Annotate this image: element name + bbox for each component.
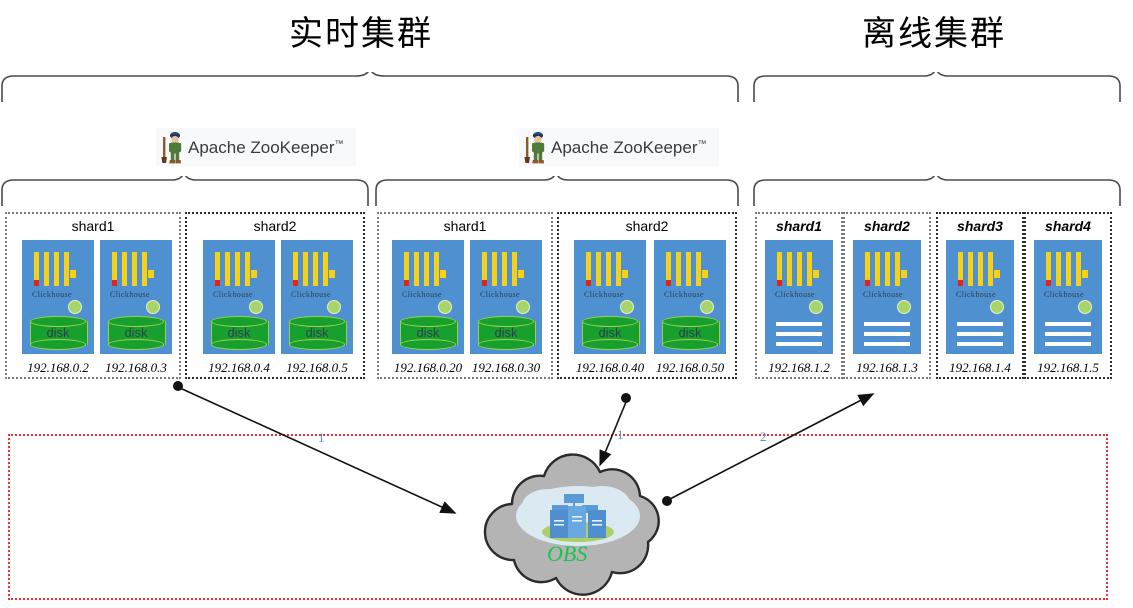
node-ip: 192.168.1.3 [843, 360, 931, 376]
zookeeper-label-2: Apache ZooKeeper™ [551, 139, 707, 156]
disk-icon: disk [400, 316, 456, 350]
zookeeper-keeper-icon [523, 129, 551, 165]
disk-icon: disk [478, 316, 534, 350]
clickhouse-logo-icon [482, 252, 542, 292]
node-ip: 192.168.0.20 [386, 360, 470, 376]
clickhouse-caption: Clickhouse [110, 290, 150, 299]
brace-offline-group [752, 176, 1122, 208]
architecture-diagram: 实时集群 离线集群 Apache ZooKeeper™ [0, 0, 1133, 608]
clickhouse-caption: Clickhouse [213, 290, 253, 299]
brace-zk2-group [374, 176, 740, 208]
disk-icon: disk [289, 316, 345, 350]
storage-line [1045, 332, 1091, 336]
clickhouse-logo-icon [404, 252, 464, 292]
disk-label: disk [30, 325, 86, 340]
shard-label: shard1 [757, 218, 841, 234]
storage-line [1045, 322, 1091, 326]
clickhouse-node: Clickhouse disk [100, 240, 172, 354]
cluster-title-offline: 离线集群 [862, 6, 1006, 55]
node-ip: 192.168.0.2 [22, 360, 94, 376]
brace-realtime-top [0, 72, 740, 104]
status-led-icon [249, 300, 263, 314]
zookeeper-logo-1: Apache ZooKeeper™ [156, 128, 356, 166]
storage-line [864, 322, 910, 326]
arrow-label-2: 2 [760, 429, 767, 445]
clickhouse-node: Clickhouse disk [574, 240, 646, 354]
zookeeper-keeper-icon [160, 129, 188, 165]
clickhouse-caption: Clickhouse [1044, 290, 1084, 299]
disk-icon: disk [211, 316, 267, 350]
disk-label: disk [662, 325, 718, 340]
shard-label: shard3 [938, 218, 1022, 234]
node-ip: 192.168.0.4 [203, 360, 275, 376]
storage-line [957, 322, 1003, 326]
obs-label: OBS [547, 541, 587, 567]
cluster-title-realtime: 实时集群 [289, 6, 433, 55]
clickhouse-node: Clickhouse disk [470, 240, 542, 354]
shard-label: shard2 [187, 218, 363, 234]
clickhouse-logo-icon [586, 252, 646, 292]
clickhouse-node: Clickhouse [946, 240, 1014, 354]
clickhouse-caption: Clickhouse [480, 290, 520, 299]
clickhouse-logo-icon [1046, 252, 1106, 292]
clickhouse-caption: Clickhouse [32, 290, 72, 299]
status-led-icon [146, 300, 160, 314]
shard-label: shard2 [845, 218, 929, 234]
storage-line [776, 342, 822, 346]
shard-label: shard1 [7, 218, 179, 234]
shard-label: shard2 [559, 218, 735, 234]
disk-icon: disk [30, 316, 86, 350]
node-ip: 192.168.1.5 [1024, 360, 1112, 376]
clickhouse-node: Clickhouse disk [392, 240, 464, 354]
clickhouse-logo-icon [293, 252, 353, 292]
node-ip: 192.168.0.40 [568, 360, 652, 376]
disk-label: disk [478, 325, 534, 340]
zookeeper-logo-2: Apache ZooKeeper™ [519, 128, 719, 166]
node-ip: 192.168.1.2 [755, 360, 843, 376]
arrow-label-1b: 1 [617, 427, 624, 443]
status-led-icon [700, 300, 714, 314]
clickhouse-node: Clickhouse [853, 240, 921, 354]
status-led-icon [990, 300, 1004, 314]
disk-label: disk [289, 325, 345, 340]
disk-label: disk [400, 325, 456, 340]
clickhouse-logo-icon [215, 252, 275, 292]
status-led-icon [68, 300, 82, 314]
clickhouse-logo-icon [865, 252, 925, 292]
brace-zk1-group [0, 176, 370, 208]
node-ip: 192.168.0.50 [648, 360, 732, 376]
clickhouse-node: Clickhouse disk [203, 240, 275, 354]
clickhouse-caption: Clickhouse [402, 290, 442, 299]
clickhouse-caption: Clickhouse [291, 290, 331, 299]
zookeeper-label-1: Apache ZooKeeper™ [188, 139, 344, 156]
storage-line [776, 332, 822, 336]
status-led-icon [809, 300, 823, 314]
status-led-icon [1078, 300, 1092, 314]
shard-label: shard4 [1026, 218, 1110, 234]
brace-offline-top [752, 72, 1122, 104]
clickhouse-logo-icon [112, 252, 172, 292]
clickhouse-logo-icon [666, 252, 726, 292]
disk-label: disk [582, 325, 638, 340]
disk-icon: disk [662, 316, 718, 350]
storage-line [957, 332, 1003, 336]
shard-label: shard1 [379, 218, 551, 234]
status-led-icon [327, 300, 341, 314]
disk-icon: disk [108, 316, 164, 350]
clickhouse-caption: Clickhouse [956, 290, 996, 299]
clickhouse-caption: Clickhouse [775, 290, 815, 299]
node-ip: 192.168.0.5 [281, 360, 353, 376]
disk-label: disk [108, 325, 164, 340]
storage-line [957, 342, 1003, 346]
storage-line [1045, 342, 1091, 346]
clickhouse-logo-icon [958, 252, 1018, 292]
arrow-label-1a: 1 [318, 430, 325, 446]
clickhouse-logo-icon [777, 252, 837, 292]
node-ip: 192.168.0.30 [464, 360, 548, 376]
node-ip: 192.168.1.4 [936, 360, 1024, 376]
clickhouse-logo-icon [34, 252, 94, 292]
storage-line [864, 342, 910, 346]
status-led-icon [438, 300, 452, 314]
node-ip: 192.168.0.3 [100, 360, 172, 376]
clickhouse-caption: Clickhouse [584, 290, 624, 299]
clickhouse-node: Clickhouse disk [281, 240, 353, 354]
status-led-icon [897, 300, 911, 314]
clickhouse-node: Clickhouse disk [22, 240, 94, 354]
clickhouse-node: Clickhouse [765, 240, 833, 354]
clickhouse-caption: Clickhouse [664, 290, 704, 299]
connector-arrows [0, 380, 1133, 540]
status-led-icon [620, 300, 634, 314]
clickhouse-node: Clickhouse [1034, 240, 1102, 354]
storage-line [864, 332, 910, 336]
status-led-icon [516, 300, 530, 314]
storage-line [776, 322, 822, 326]
clickhouse-caption: Clickhouse [863, 290, 903, 299]
disk-label: disk [211, 325, 267, 340]
clickhouse-node: Clickhouse disk [654, 240, 726, 354]
disk-icon: disk [582, 316, 638, 350]
